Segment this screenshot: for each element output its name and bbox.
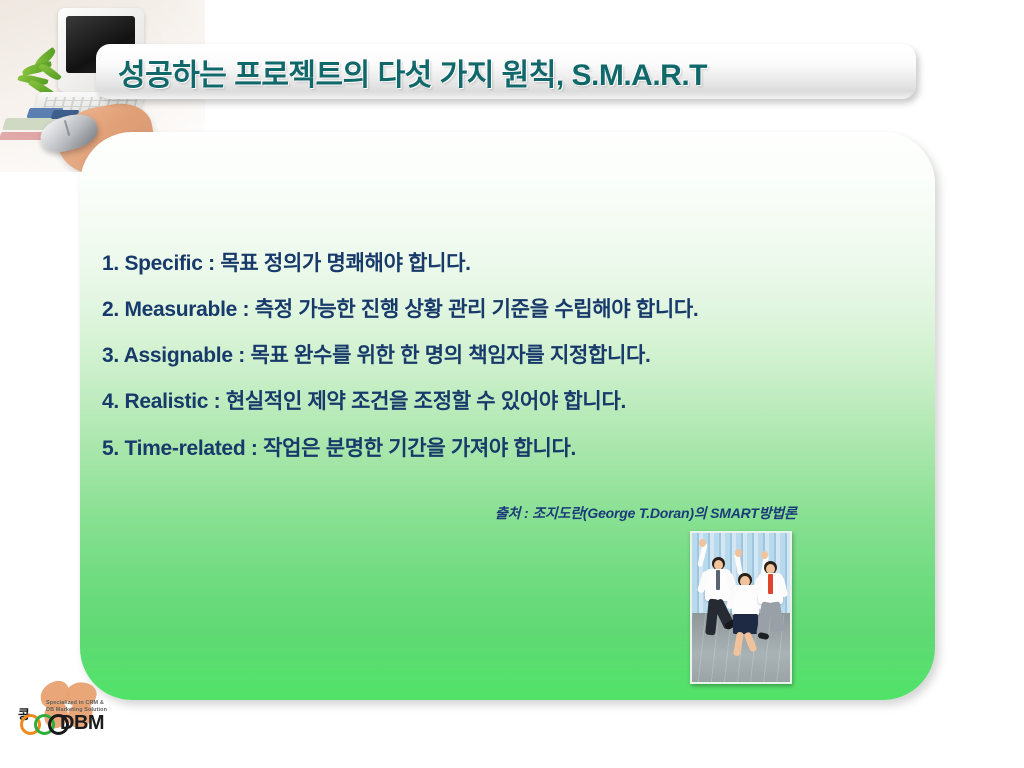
logo-brand-text: DBM (60, 712, 104, 735)
principles-list: 1. Specific : 목표 정의가 명쾌해야 합니다. 2. Measur… (102, 252, 982, 483)
page-title: 성공하는 프로젝트의 다섯 가지 원칙, S.M.A.R.T (118, 50, 707, 94)
company-logo: Specialized in CRM & DB Marketing Soluti… (16, 682, 116, 752)
list-item: 1. Specific : 목표 정의가 명쾌해야 합니다. (102, 252, 982, 276)
slide-title-bar: 성공하는 프로젝트의 다섯 가지 원칙, S.M.A.R.T (96, 44, 916, 99)
list-item: 4. Realistic : 현실적인 제약 조건을 조정할 수 있어야 합니다… (102, 390, 982, 414)
list-item: 5. Time-related : 작업은 분명한 기간을 가져야 합니다. (102, 437, 982, 461)
list-item: 2. Measurable : 측정 가능한 진행 상황 관리 기준을 수립해야… (102, 298, 982, 322)
source-citation: 출처 : 조지도란(George T.Doran)의 SMART방법론 (495, 503, 797, 523)
three-people-jumping-photo (690, 531, 792, 684)
list-item: 3. Assignable : 목표 완수를 위한 한 명의 책임자를 지정합니… (102, 344, 982, 368)
logo-tagline-line1: Specialized in CRM & (46, 700, 116, 707)
